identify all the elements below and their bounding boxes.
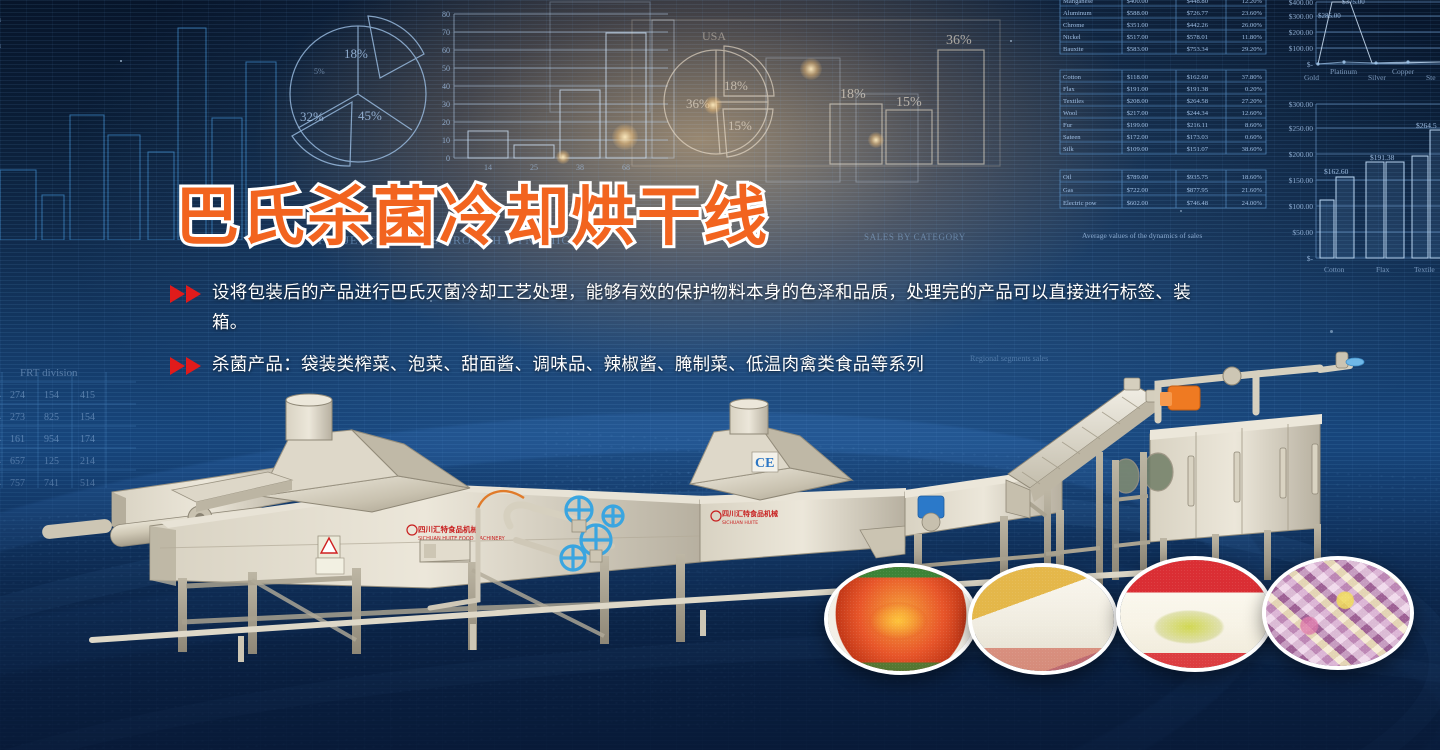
orange-gearbox [1160,386,1200,410]
product-circle-3[interactable]: 五香榨菜 [1116,556,1274,672]
svg-text:CE: CE [755,456,774,471]
svg-text:四川汇特食品机械: 四川汇特食品机械 [722,509,778,518]
svg-text:四川汇特食品机械: 四川汇特食品机械 [418,524,478,534]
product-circle-2[interactable]: 老坛酸菜 [968,563,1118,675]
page-title: 巴氏杀菌冷却烘干线 [175,166,769,258]
product-circle-1[interactable]: 八宝菜 [824,563,978,675]
svg-text:SICHUAN HUITE: SICHUAN HUITE [722,520,758,526]
banner-stage: on on 18% 32% 45% 5% [0,0,1440,750]
outlet-valve [1320,352,1364,370]
exhaust-hood-1 [260,394,470,512]
control-panel-left [316,536,344,574]
drying-chamber [1113,352,1364,586]
double-right-arrow-icon [170,278,212,304]
product-circle-4[interactable]: 糖果 [1262,556,1414,670]
bullet-item-1: 设将包装后的产品进行巴氏灭菌冷却工艺处理，能够有效的保护物料本身的色泽和品质，处… [170,278,1220,338]
ce-badge: CE [752,452,778,472]
access-door-left [420,540,470,562]
bullet-text-1: 设将包装后的产品进行巴氏灭菌冷却工艺处理，能够有效的保护物料本身的色泽和品质，处… [212,278,1220,338]
page-title-text: 巴氏杀菌冷却烘干线 [175,181,769,255]
cooling-tunnel: CE 四川汇特食品机械 SICHUAN HUITE [690,399,906,562]
